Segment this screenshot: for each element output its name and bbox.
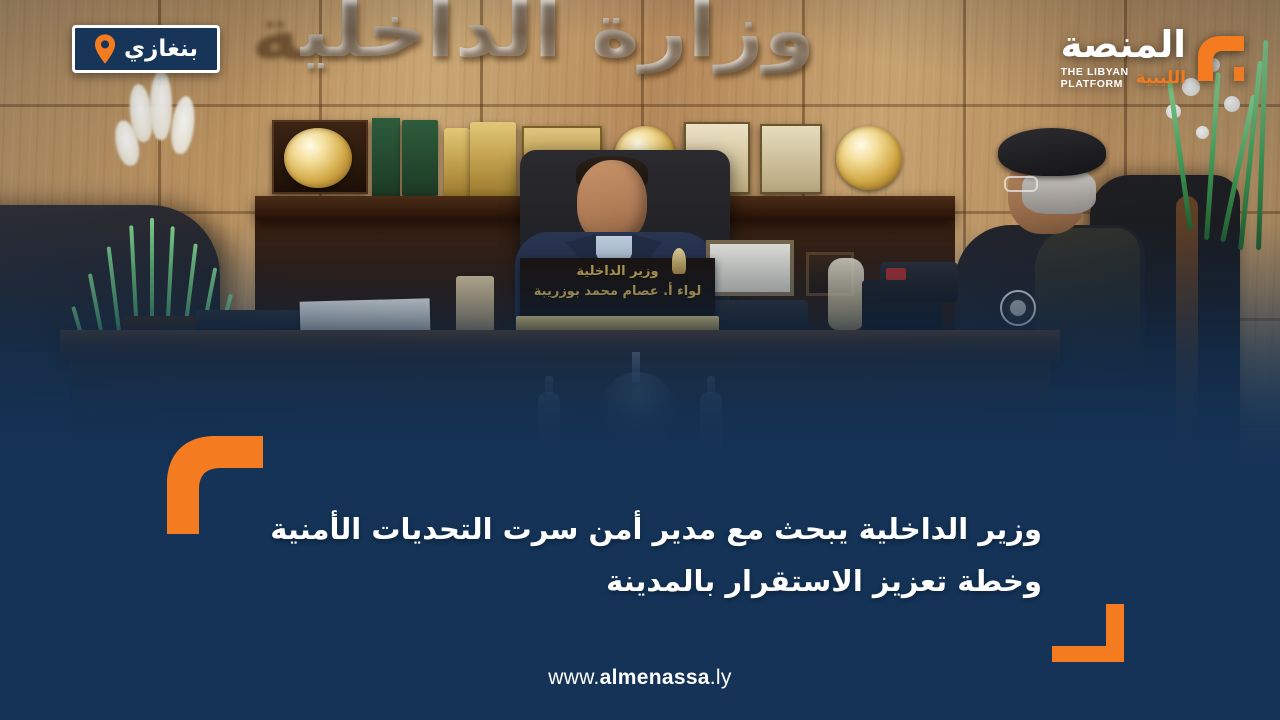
- orange-hook-mark-icon: [1190, 27, 1252, 89]
- location-label: بنغازي: [124, 36, 198, 62]
- logo-secondary-row: THE LIBYAN PLATFORM الليبية: [1061, 66, 1186, 91]
- website-url[interactable]: www.almenassa.ly: [0, 666, 1280, 690]
- news-card: وزارة الداخلية: [0, 0, 1280, 720]
- logo-arabic-sub: الليبية: [1136, 70, 1186, 87]
- orange-close-bracket-icon: [1052, 604, 1124, 662]
- logo-english-line2: PLATFORM: [1061, 78, 1123, 90]
- logo-arabic-main: المنصة: [1061, 26, 1186, 63]
- url-name: almenassa: [600, 666, 710, 689]
- url-suffix: .ly: [710, 666, 732, 689]
- headline-line-1: وزير الداخلية يبحث مع مدير أمن سرت التحد…: [232, 504, 1042, 556]
- location-badge[interactable]: بنغازي: [72, 25, 220, 73]
- logo-text-block: المنصة THE LIBYAN PLATFORM الليبية: [1061, 26, 1186, 91]
- map-pin-icon: [94, 34, 116, 64]
- headline: وزير الداخلية يبحث مع مدير أمن سرت التحد…: [232, 504, 1042, 607]
- url-prefix: www.: [548, 666, 599, 689]
- headline-line-2: وخطة تعزيز الاستقرار بالمدينة: [232, 556, 1042, 608]
- logo-arabic-row: المنصة: [1061, 26, 1186, 63]
- logo-english-text: THE LIBYAN PLATFORM: [1061, 66, 1129, 91]
- logo-english-line1: THE LIBYAN: [1061, 66, 1129, 78]
- brand-logo[interactable]: المنصة THE LIBYAN PLATFORM الليبية: [1042, 18, 1252, 98]
